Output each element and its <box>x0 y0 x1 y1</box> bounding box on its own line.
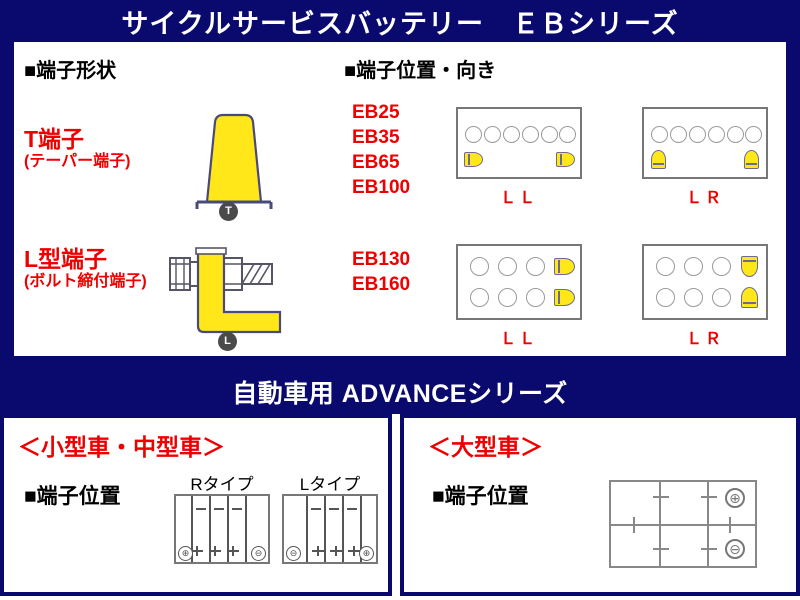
cell-tick <box>653 548 669 550</box>
terminal-position-heading: ■端子位置・向き <box>344 54 496 83</box>
cell-vent <box>684 288 703 307</box>
cell-divider <box>324 496 326 562</box>
cell-vent <box>526 257 545 276</box>
eb-series-frame: サイクルサービスバッテリー ＥＢシリーズ ■端子形状 T端子 (テーパー端子) … <box>0 0 800 370</box>
terminal-right-up <box>744 150 759 169</box>
large-car-title: ＜大型車＞ <box>428 428 543 462</box>
battery-diagram-eb-large-lr <box>642 244 768 320</box>
battery-diagram-eb-large-ll <box>456 244 582 320</box>
cell-divider <box>245 496 247 562</box>
t-terminal-label: T端子 (テーパー端子) <box>24 127 131 172</box>
model-eb130: EB130 <box>352 247 410 272</box>
cell-vent <box>727 126 744 143</box>
cell-vent <box>745 126 762 143</box>
positive-pole-icon: ⊕ <box>178 546 193 561</box>
cell-vent <box>470 257 489 276</box>
cell-vent <box>670 126 687 143</box>
model-eb160: EB160 <box>352 272 410 297</box>
cell-tick <box>330 550 342 552</box>
l-terminal-subname: (ボルト締付端子) <box>24 272 147 292</box>
cell-vent <box>712 257 731 276</box>
cell-vent <box>470 288 489 307</box>
cell-divider <box>209 496 211 562</box>
cell-divider <box>342 496 344 562</box>
eb-model-list-row1: EB25 EB35 EB65 EB100 <box>352 100 410 200</box>
cell-vent <box>541 126 558 143</box>
cell-vent <box>484 126 501 143</box>
panel-large-car: ＜大型車＞ ■端子位置 ⊕ ⊖ <box>400 414 800 596</box>
cell-tick <box>701 548 717 550</box>
terminal-shape-heading: ■端子形状 <box>24 54 116 83</box>
cell-vent <box>503 126 520 143</box>
taper-terminal-svg <box>179 102 289 212</box>
l-type-label: Lタイプ <box>280 470 380 495</box>
l-terminal-name: L型端子 <box>24 247 147 272</box>
model-eb25: EB25 <box>352 100 410 125</box>
cell-tick <box>347 508 357 510</box>
negative-pole-icon: ⊖ <box>725 539 745 559</box>
positive-pole-icon: ⊕ <box>725 488 745 508</box>
cell-vent <box>708 126 725 143</box>
page-root: サイクルサービスバッテリー ＥＢシリーズ ■端子形状 T端子 (テーパー端子) … <box>0 0 800 600</box>
terminal-top-side <box>554 258 575 275</box>
negative-pole-icon: ⊖ <box>251 546 266 561</box>
taper-terminal-drawing: T <box>179 102 289 212</box>
cell-tick <box>227 550 239 552</box>
terminal-top-down <box>741 256 758 277</box>
panel-large-car-inner: ＜大型車＞ ■端子位置 ⊕ ⊖ <box>404 418 796 592</box>
cell-tick <box>729 517 731 533</box>
advance-banner: 自動車用 ADVANCEシリーズ <box>0 370 800 414</box>
cell-tick <box>214 508 224 510</box>
terminal-left-up <box>651 150 666 169</box>
model-eb100: EB100 <box>352 175 410 200</box>
cell-vent <box>498 257 517 276</box>
col-divider <box>707 482 709 566</box>
cell-vent <box>684 257 703 276</box>
eb-model-list-row2: EB130 EB160 <box>352 247 410 297</box>
small-medium-car-title: ＜小型車・中型車＞ <box>18 428 225 462</box>
cell-tick <box>701 496 717 498</box>
cell-vent <box>465 126 482 143</box>
cell-vent <box>559 126 576 143</box>
terminal-right-side <box>556 152 575 167</box>
position-label-ll-2: ＬＬ <box>456 325 582 349</box>
position-label-lr-1: ＬＲ <box>642 184 768 208</box>
cell-divider <box>306 496 308 562</box>
eb-banner-title: サイクルサービスバッテリー ＥＢシリーズ <box>0 0 800 42</box>
col-divider <box>659 482 661 566</box>
position-label-lr-2: ＬＲ <box>642 325 768 349</box>
cell-tick <box>232 508 242 510</box>
l-terminal-badge: L <box>218 332 237 351</box>
cell-vent <box>526 288 545 307</box>
cell-vent <box>689 126 706 143</box>
t-terminal-badge: T <box>219 202 238 221</box>
terminal-bottom-up <box>741 287 758 308</box>
cell-vent <box>651 126 668 143</box>
l-terminal-label: L型端子 (ボルト締付端子) <box>24 247 147 292</box>
t-terminal-name: T端子 <box>24 127 131 152</box>
bolt-terminal-drawing: L <box>162 240 292 355</box>
terminal-left-side <box>464 152 483 167</box>
cell-tick <box>653 496 669 498</box>
cell-vent <box>522 126 539 143</box>
battery-diagram-eb-small-ll <box>456 107 582 179</box>
battery-diagram-large-car: ⊕ ⊖ <box>609 480 757 568</box>
cell-vent <box>498 288 517 307</box>
model-eb35: EB35 <box>352 125 410 150</box>
cell-tick <box>633 517 635 533</box>
position-label-ll-1: ＬＬ <box>456 184 582 208</box>
panel-small-medium-car: ＜小型車・中型車＞ ■端子位置 Rタイプ ⊕ ⊖ <box>0 414 392 596</box>
cell-vent <box>712 288 731 307</box>
battery-diagram-l-type: ⊖ ⊕ <box>282 494 378 564</box>
t-terminal-subname: (テーパー端子) <box>24 152 131 172</box>
large-terminal-position-heading: ■端子位置 <box>432 480 529 510</box>
cell-tick <box>196 508 206 510</box>
positive-pole-icon: ⊕ <box>359 546 374 561</box>
terminal-bottom-side <box>554 289 575 306</box>
cell-tick <box>329 508 339 510</box>
cell-vent <box>656 257 675 276</box>
battery-diagram-r-type: ⊕ ⊖ <box>174 494 270 564</box>
cell-tick <box>312 550 324 552</box>
eb-content-area: ■端子形状 T端子 (テーパー端子) T L型端子 (ボルト締付端子) <box>14 42 786 356</box>
model-eb65: EB65 <box>352 150 410 175</box>
panel-small-medium-car-inner: ＜小型車・中型車＞ ■端子位置 Rタイプ ⊕ ⊖ <box>4 418 388 592</box>
cell-vent <box>656 288 675 307</box>
small-medium-terminal-position-heading: ■端子位置 <box>24 480 121 510</box>
cell-tick <box>311 508 321 510</box>
cell-tick <box>209 550 221 552</box>
negative-pole-icon: ⊖ <box>286 546 301 561</box>
r-type-label: Rタイプ <box>172 470 272 495</box>
battery-diagram-eb-small-lr <box>642 107 768 179</box>
advance-banner-title: 自動車用 ADVANCEシリーズ <box>232 374 567 410</box>
cell-divider <box>227 496 229 562</box>
